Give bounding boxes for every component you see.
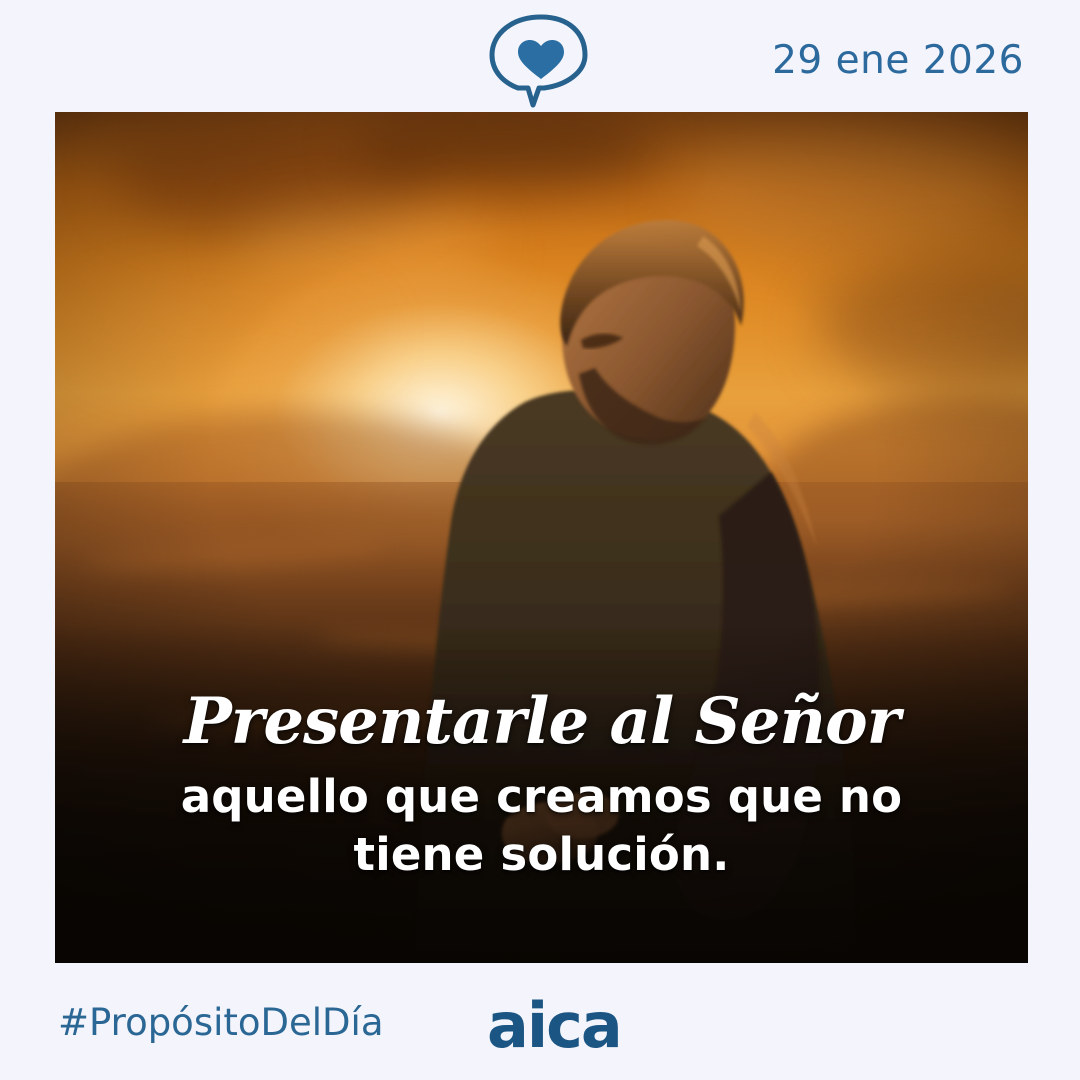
quote-overlay: Presentarle al Señor aquello que creamos… — [55, 690, 1028, 883]
header-bar: 29 ene 2026 — [0, 0, 1080, 112]
social-post-canvas: 29 ene 2026 — [0, 0, 1080, 1080]
quote-headline: Presentarle al Señor — [55, 690, 1028, 754]
heart-speech-bubble-icon — [482, 12, 600, 108]
aica-logo: aica — [487, 989, 621, 1062]
hashtag-label[interactable]: #PropósitoDelDía — [58, 1001, 384, 1044]
post-date: 29 ene 2026 — [772, 38, 1024, 83]
quote-body: aquello que creamos que no tiene solució… — [55, 768, 1028, 883]
footer-bar: #PropósitoDelDía aica — [0, 963, 1080, 1080]
